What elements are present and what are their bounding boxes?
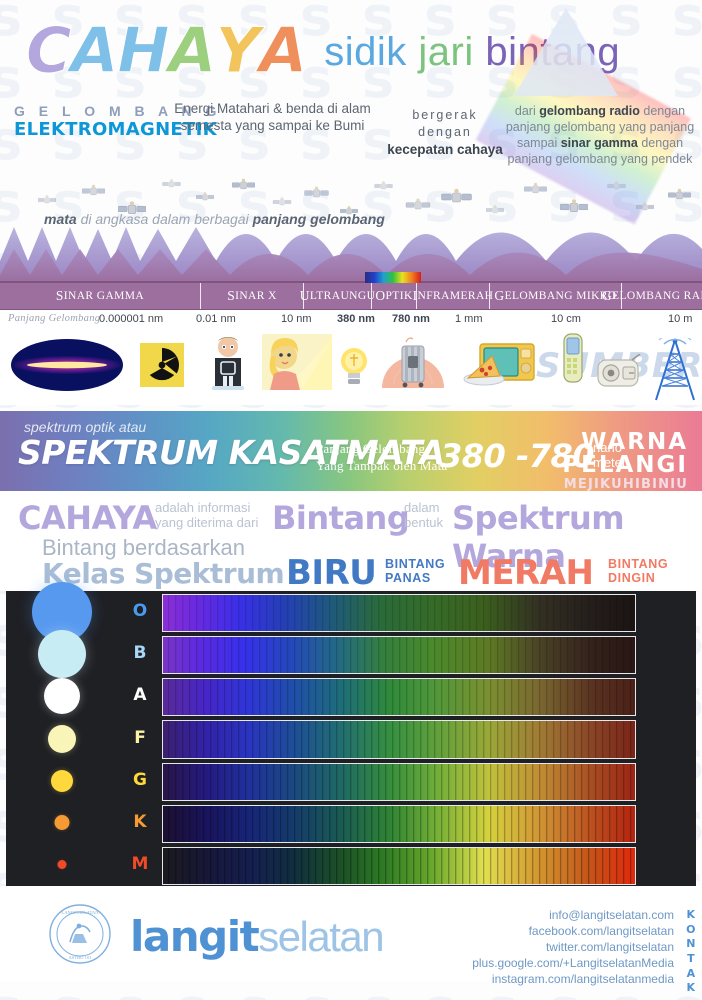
kontak-letter-0: K [686,908,696,923]
watermark-letter: s [300,982,332,1000]
absorption-lines [163,637,635,673]
microwave-pizza-icon [462,338,536,395]
contact-list: info@langitselatan.comfacebook.com/langi… [472,908,674,988]
title-letter-2: H [118,22,169,81]
watermark-letter: s [114,982,146,1000]
spectrum-strip-column [162,591,634,886]
wavelength-value-2: 10 nm [281,313,312,325]
heater-radiator-icon [378,334,448,395]
stmt-bintang: Bintang [272,499,409,537]
em-segment-gelombang-radio[interactable]: GELOMBANG RADIO [621,283,702,309]
wavelength-value-1: 0.01 nm [196,313,236,325]
caption-bold-1: mata [44,211,77,227]
warna-pelangi-label: WARNA PELANGI MEJIKUHIBINIU [562,431,688,491]
dalam-line-2: bentuk [404,516,443,531]
segment-initial: U [300,288,310,304]
kontak-letter-2: N [686,937,696,952]
warna-line-1: WARNA [562,431,688,454]
intro-text-kecepatan: bergerak dengan kecepatan cahaya [385,107,505,159]
adalah-line-2: yang diterima dari [155,516,258,531]
spectrum-strip-G [162,763,636,801]
spectral-class-A: A [118,685,162,705]
segment-rest: INAR X [235,290,277,302]
kontak-letter-3: T [686,952,696,967]
svg-text:ASTRO 101: ASTRO 101 [68,955,92,960]
satellite-icon-14 [524,181,547,202]
em-segment-sinar-gamma[interactable]: SINAR GAMMA [0,283,200,309]
radiation-hazard-icon [140,343,184,392]
absorption-lines [163,764,635,800]
star-disc-M [58,860,67,869]
star-disc-F [48,725,76,753]
wavelength-title: Panjang Gelombang [8,313,100,324]
wavelength-row: Panjang Gelombang 0.000001 nm0.01 nm10 n… [0,310,702,330]
satellite-icon-13 [486,203,504,221]
intro-row: G E L O M B A N G ELEKTROMAGNETIK Energi… [0,95,702,173]
stmt-dalam-bentuk: dalam bentuk [404,501,443,531]
bergerak-dengan-text: bergerak dengan [412,108,477,139]
segment-rest: ELOMBANG RADIO [612,290,702,302]
spectrum-strip-F [162,720,636,758]
spectral-class-B: B [118,643,162,663]
em-segment-optik[interactable]: OPTIK [371,283,416,309]
absorption-lines [163,721,635,757]
em-spectrum-bar: SINAR GAMMASINAR XULTRAUNGUOPTIKINFRAMER… [0,281,702,310]
satellite-icon-1 [38,193,56,211]
subtitle-word-0: sidik [324,30,407,74]
absorption-lines [163,806,635,842]
absorption-lines [163,595,635,631]
uv-sunbathing-icon [262,334,332,395]
spectral-class-O: O [118,601,162,621]
star-size-column [6,591,118,886]
watermark-letter: s [238,982,270,1000]
intro-text-energi: Energi Matahari & benda di alam semesta … [170,101,375,135]
satellite-icon-3 [636,199,654,220]
spectrum-strip-A [162,678,636,716]
intro-text-radio-gamma: dari gelombang radio dengan panjang gelo… [505,103,695,167]
title-letter-3: A [168,22,215,81]
absorption-lines [163,679,635,715]
segment-initial: O [375,288,385,304]
wavelength-value-5: 1 mm [455,313,483,325]
satellite-icon-11 [404,197,432,218]
kontak-letter-4: A [686,967,696,982]
watermark-letter: s [424,982,456,1000]
intro4-p1: dari [515,104,539,118]
langitselatan-seal-icon: LANGITSELATAN ASTRO 101 [48,902,112,966]
stmt-adalah-informasi: adalah informasi yang diterima dari [155,501,258,531]
stmt-bintang-panas: BINTANG PANAS [385,557,445,585]
contact-line-1[interactable]: facebook.com/langitselatan [472,924,674,940]
satellite-icon-2 [82,183,105,204]
satellite-icon-4 [155,177,188,195]
title-letter-4: Y [215,22,259,81]
absorption-lines [163,848,635,884]
wavelength-value-0: 0.000001 nm [99,313,163,325]
satellite-icon-8 [300,185,333,206]
mid-line-2: Yang Tampak oleh Mata [316,458,447,475]
em-segment-sinar-x[interactable]: SINAR X [200,283,303,309]
em-segment-ultraungu[interactable]: ULTRAUNGU [303,283,371,309]
svg-text:LANGITSELATAN: LANGITSELATAN [61,910,99,915]
spectral-class-M: M [118,854,162,874]
stmt-biru: BIRU [286,553,376,593]
star-disc-B [38,630,86,678]
contact-line-4[interactable]: instagram.com/langitselatanmedia [472,972,674,988]
watermark-letter: s [362,982,394,1000]
satellite-icon-10 [372,179,395,197]
segment-initial: S [227,288,235,304]
star-disc-A [44,678,80,714]
intro4-b1: gelombang radio [539,104,640,118]
spectral-class-F: F [118,728,162,748]
brand-langit: langit [130,912,258,961]
kontak-vertical-label: KONTAK [686,908,696,996]
biru-line-1: BINTANG [385,557,445,571]
contact-line-3[interactable]: plus.google.com/+LangitselatanMedia [472,956,674,972]
footer: LANGITSELATAN ASTRO 101 langitselatan in… [0,886,702,981]
satellite-icon-2 [600,179,633,197]
gamma-sky-map-icon [10,338,124,397]
contact-line-0[interactable]: info@langitselatan.com [472,908,674,924]
lightbulb-icon [338,344,370,393]
star-disc-K [55,815,70,830]
spectrum-strip-B [162,636,636,674]
segment-rest: PTIK [386,290,413,302]
page-title: CAHAYA [26,22,306,81]
kecepatan-cahaya-text: kecepatan cahaya [387,142,503,157]
intro4-b2: sinar gamma [561,136,638,150]
statements-block: CAHAYA adalah informasi yang diterima da… [0,491,702,591]
segment-rest: NFRAMERAH [418,290,494,302]
infographic-page: ssssssssssssssssssssssssssssssssssssssss… [0,0,702,1000]
spectrum-strip-O [162,594,636,632]
satellite-caption: mata di angkasa dalam berbagai panjang g… [44,211,385,227]
spectrum-strip-K [162,805,636,843]
radio-tower-icon [650,338,700,407]
watermark-letter: s [176,982,208,1000]
xray-body-icon [208,336,248,397]
caption-bold-2: panjang gelombang [253,211,385,227]
source-icons-row: SUMBER [0,330,702,405]
visible-spectrum-banner: spektrum optik atau SPEKTRUM KASATMATA P… [0,411,702,491]
stmt-bintang-dingin: BINTANG DINGIN [608,557,668,585]
segment-rest: LTRAUNGU [310,290,375,302]
warna-line-2: PELANGI [562,454,688,477]
wavelength-value-6: 10 cm [551,313,581,325]
satellite-wave-band: mata di angkasa dalam berbagai panjang g… [0,173,702,281]
dalam-line-1: dalam [404,501,443,516]
satellite-icon-12 [440,187,473,212]
title-letter-0: C [26,22,71,81]
watermark-letter: s [52,982,84,1000]
satellite-icon-5 [196,189,214,210]
prism-icon [514,8,618,96]
subtitle-word-1: jari [407,30,474,74]
merah-line-2: DINGIN [608,571,668,585]
segment-initial: S [56,288,64,304]
merah-line-1: BINTANG [608,557,668,571]
title-letter-5: A [259,22,306,81]
stmt-merah: MERAH [458,553,594,593]
title-letter-1: A [71,22,118,81]
em-segment-inframerah[interactable]: INFRAMERAH [416,283,489,309]
optical-rainbow-icon [365,272,421,283]
watermark-letter: s [0,982,22,1000]
adalah-line-1: adalah informasi [155,501,258,516]
kontak-letter-1: O [686,923,696,938]
biru-line-2: PANAS [385,571,445,585]
segment-initial: G [602,288,612,304]
brand-selatan: selatan [258,913,383,960]
star-disc-G [51,770,73,792]
brand-wordmark: langitselatan [130,912,383,961]
segment-initial: G [494,288,504,304]
header: CAHAYA sidik jari bintang [0,0,702,95]
wavelength-value-3: 380 nm [337,313,375,325]
mejikuhibiniu-label: MEJIKUHIBINIU [562,478,688,491]
wavelength-value-7: 10 m [668,313,692,325]
contact-line-2[interactable]: twitter.com/langitselatan [472,940,674,956]
mobile-phone-icon [560,332,586,389]
segment-rest: INAR GAMMA [64,290,144,302]
satellite-icon-4 [668,185,691,210]
class-letter-column: OBAFGKM [118,591,162,886]
spectrum-strip-M [162,847,636,885]
stmt-cahaya: CAHAYA [18,499,157,537]
segment-rest: ELOMBANG MIKRO [505,290,617,302]
caption-rest: di angkasa dalam berbagai [77,211,253,227]
panjang-gelombang-mata-label: Panjang Gelombang Yang Tampak oleh Mata [316,441,447,474]
radio-receiver-icon [596,354,642,393]
mid-line-1: Panjang Gelombang [316,441,447,458]
stmt-kelas-spektrum: Kelas Spektrum [42,557,284,590]
spectral-class-chart: OBAFGKM [6,591,696,886]
spectral-class-K: K [118,812,162,832]
spectral-class-G: G [118,770,162,790]
kontak-letter-5: K [686,981,696,996]
wavelength-value-4: 780 nm [392,313,430,325]
satellite-icon-1 [560,197,588,222]
satellite-icon-6 [232,175,255,200]
